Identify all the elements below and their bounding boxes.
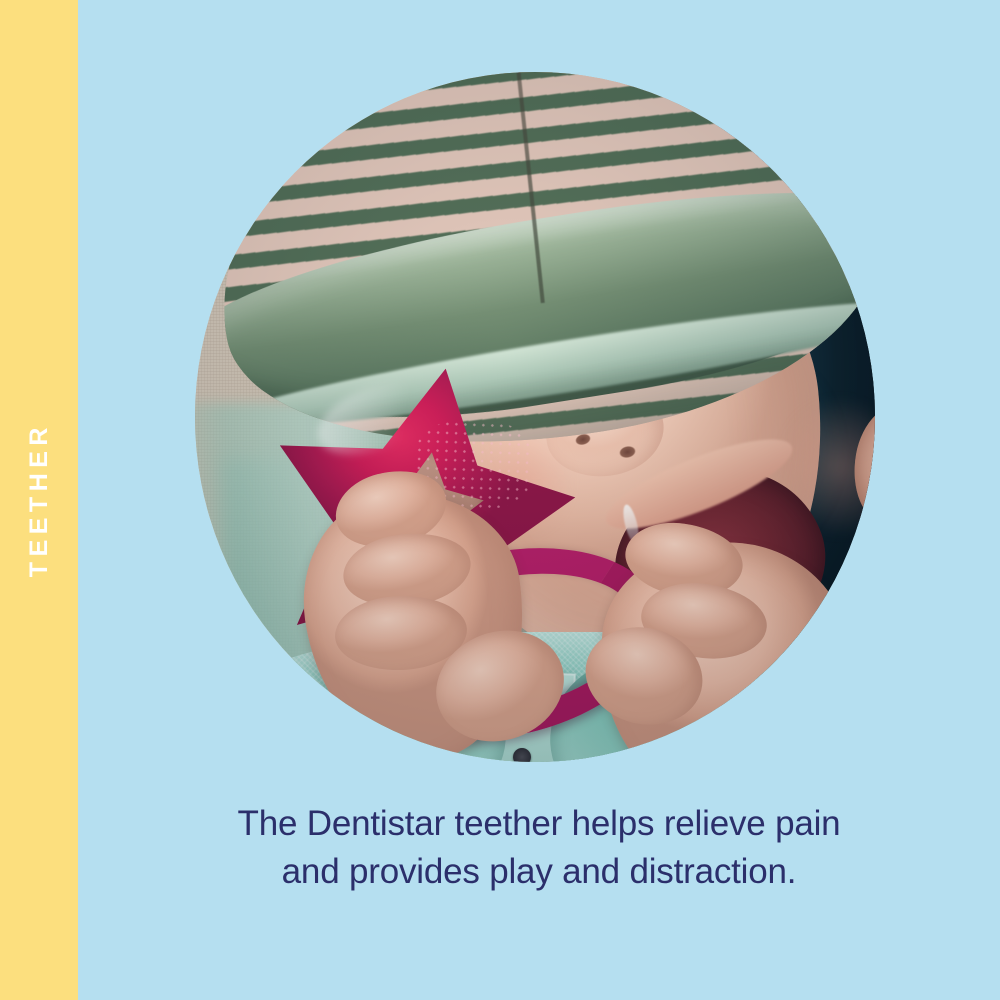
caption: The Dentistar teether helps relieve pain… bbox=[78, 800, 1000, 896]
circular-product-photo bbox=[195, 72, 875, 762]
category-label-text: TEETHER bbox=[27, 422, 52, 577]
shirt-button bbox=[513, 748, 531, 762]
caption-line-1: The Dentistar teether helps relieve pain bbox=[126, 800, 952, 848]
category-label: TEETHER bbox=[0, 0, 78, 1000]
caption-line-2: and provides play and distraction. bbox=[126, 848, 952, 896]
product-feature-card: TEETHER bbox=[0, 0, 1000, 1000]
